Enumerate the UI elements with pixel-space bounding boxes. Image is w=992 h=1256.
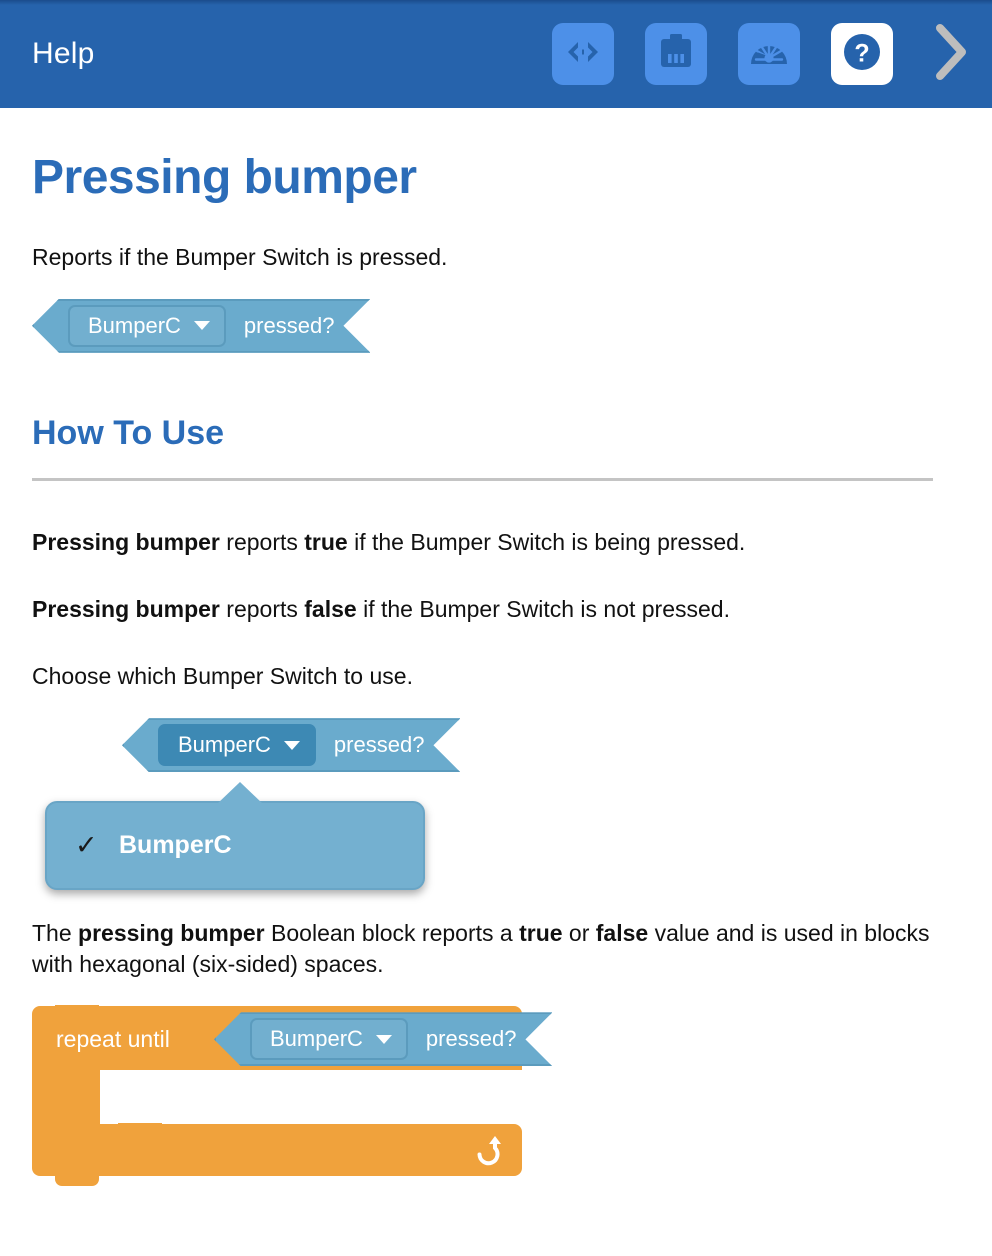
- dashboard-icon: [749, 37, 789, 72]
- pressing-bumper-block[interactable]: BumperC pressed?: [32, 299, 370, 353]
- content-area: Pressing bumper Reports if the Bumper Sw…: [0, 152, 992, 1181]
- menu-pointer: [217, 782, 263, 804]
- page-header-title: Help: [32, 39, 95, 69]
- para1-run3: if the Bumper Switch is being pressed.: [348, 529, 746, 555]
- para1-bold-true: true: [304, 529, 347, 555]
- para4-run2: Boolean block reports a: [265, 920, 519, 946]
- paragraph-choose: Choose which Bumper Switch to use.: [32, 661, 960, 692]
- help-button[interactable]: ?: [831, 23, 893, 85]
- para4-bold-term: pressing bumper: [78, 920, 265, 946]
- bumper-port-dropdown[interactable]: BumperC: [68, 305, 226, 347]
- bumper-port-dropdown-open[interactable]: BumperC: [158, 724, 316, 766]
- next-button[interactable]: [928, 23, 974, 85]
- repeat-until-label: repeat until: [56, 1026, 170, 1053]
- para4-bold-false: false: [596, 920, 648, 946]
- pressing-bumper-block-howto[interactable]: BumperC pressed?: [122, 718, 460, 772]
- help-icon: ?: [841, 31, 883, 78]
- para1-run1: reports: [220, 529, 304, 555]
- pressing-bumper-block-in-repeat[interactable]: BumperC pressed?: [214, 1012, 552, 1066]
- pressed-label-howto: pressed?: [334, 732, 425, 758]
- para2-bold-false: false: [304, 596, 356, 622]
- bumper-port-value-howto: BumperC: [178, 732, 271, 758]
- dashboard-button[interactable]: [738, 23, 800, 85]
- para2-run1: reports: [220, 596, 304, 622]
- repeat-left-spine: [32, 1066, 100, 1128]
- para4-run4: or: [563, 920, 596, 946]
- para2-run3: if the Bumper Switch is not pressed.: [357, 596, 730, 622]
- code-view-button[interactable]: [552, 23, 614, 85]
- bumper-port-menu[interactable]: ✓ BumperC: [45, 801, 425, 890]
- paragraph-boolean: The pressing bumper Boolean block report…: [32, 918, 932, 980]
- chevron-down-icon: [284, 741, 300, 750]
- device-icon: [659, 33, 693, 76]
- chevron-right-icon: [934, 24, 968, 85]
- section-divider: [32, 478, 933, 481]
- checkmark-icon: ✓: [75, 832, 109, 859]
- paragraph-true: Pressing bumper reports true if the Bump…: [32, 527, 960, 558]
- bumper-port-dropdown-repeat[interactable]: BumperC: [250, 1018, 408, 1060]
- device-info-button[interactable]: [645, 23, 707, 85]
- code-icon: [565, 39, 601, 70]
- para1-bold-term: Pressing bumper: [32, 529, 220, 555]
- repeat-bottom-bar: [32, 1124, 522, 1176]
- block-notch-bottom: [55, 1175, 99, 1186]
- section-heading: How To Use: [32, 415, 960, 452]
- para4-bold-true: true: [519, 920, 562, 946]
- bumper-port-value: BumperC: [88, 313, 181, 339]
- para4-run0: The: [32, 920, 78, 946]
- howto-block-group: BumperC pressed? ✓ BumperC: [32, 718, 960, 918]
- header-actions: ?: [552, 23, 974, 85]
- preview-block-row: BumperC pressed?: [32, 299, 960, 353]
- intro-text: Reports if the Bumper Switch is pressed.: [32, 243, 960, 273]
- pressed-label: pressed?: [244, 313, 335, 339]
- paragraph-false: Pressing bumper reports false if the Bum…: [32, 594, 960, 625]
- app-header: Help: [0, 0, 992, 108]
- menu-item-bumperc[interactable]: BumperC: [119, 831, 232, 860]
- loop-arrow-icon: [470, 1134, 504, 1171]
- para2-bold-term: Pressing bumper: [32, 596, 220, 622]
- pressed-label-repeat: pressed?: [426, 1026, 517, 1052]
- bumper-port-value-repeat: BumperC: [270, 1026, 363, 1052]
- repeat-until-block[interactable]: repeat until BumperC pressed?: [32, 1006, 522, 1181]
- chevron-down-icon: [376, 1035, 392, 1044]
- page-title: Pressing bumper: [32, 152, 960, 205]
- chevron-down-icon: [194, 321, 210, 330]
- block-notch-inner: [118, 1123, 162, 1134]
- svg-text:?: ?: [854, 39, 869, 67]
- block-notch-top: [55, 1005, 99, 1015]
- para3-run0: Choose which Bumper Switch to use.: [32, 663, 413, 689]
